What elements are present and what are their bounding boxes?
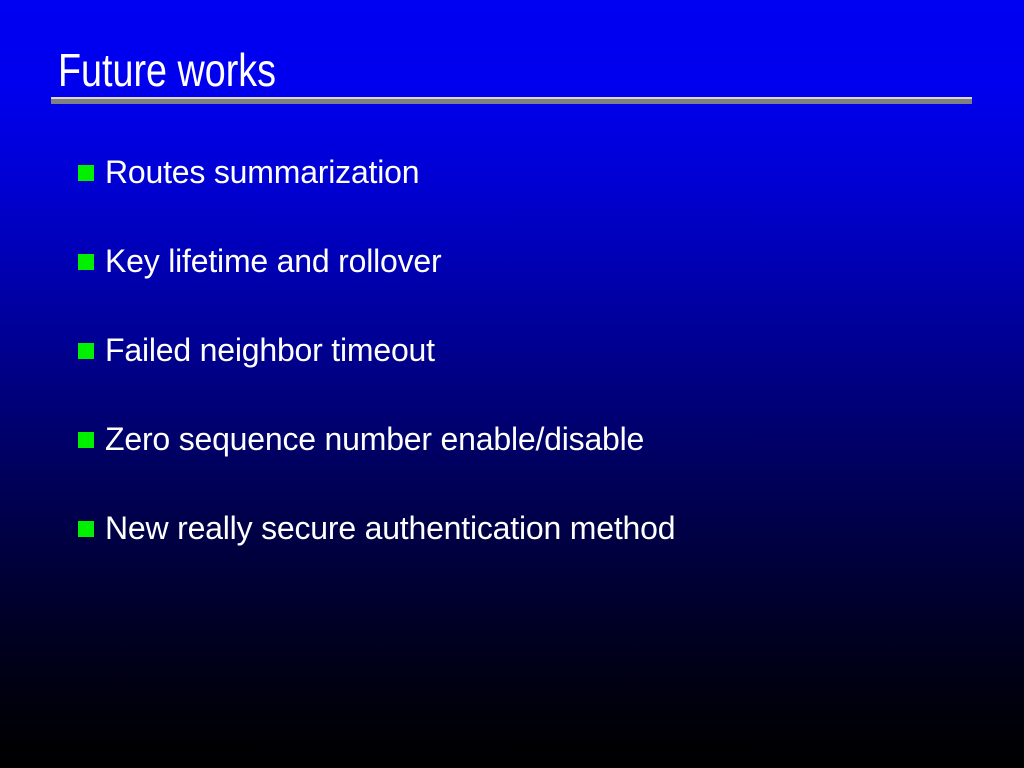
list-item: Failed neighbor timeout bbox=[78, 330, 978, 419]
page-title: Future works bbox=[58, 44, 276, 96]
bullet-item-label: Zero sequence number enable/disable bbox=[105, 419, 978, 459]
title-divider-body bbox=[51, 99, 972, 104]
list-item: Routes summarization bbox=[78, 152, 978, 241]
square-bullet-icon bbox=[78, 254, 94, 270]
bullet-item-label: Key lifetime and rollover bbox=[105, 241, 978, 281]
bullet-list: Routes summarization Key lifetime and ro… bbox=[78, 152, 978, 597]
title-divider bbox=[51, 97, 972, 104]
square-bullet-icon bbox=[78, 343, 94, 359]
title-block: Future works bbox=[51, 44, 972, 106]
bullet-item-label: Routes summarization bbox=[105, 152, 978, 192]
square-bullet-icon bbox=[78, 521, 94, 537]
list-item: Zero sequence number enable/disable bbox=[78, 419, 978, 508]
list-item: Key lifetime and rollover bbox=[78, 241, 978, 330]
bullet-item-label: New really secure authentication method bbox=[105, 508, 978, 548]
square-bullet-icon bbox=[78, 432, 94, 448]
bullet-item-label: Failed neighbor timeout bbox=[105, 330, 978, 370]
square-bullet-icon bbox=[78, 165, 94, 181]
list-item: New really secure authentication method bbox=[78, 508, 978, 597]
presentation-slide: Future works Routes summarization Key li… bbox=[0, 0, 1024, 768]
